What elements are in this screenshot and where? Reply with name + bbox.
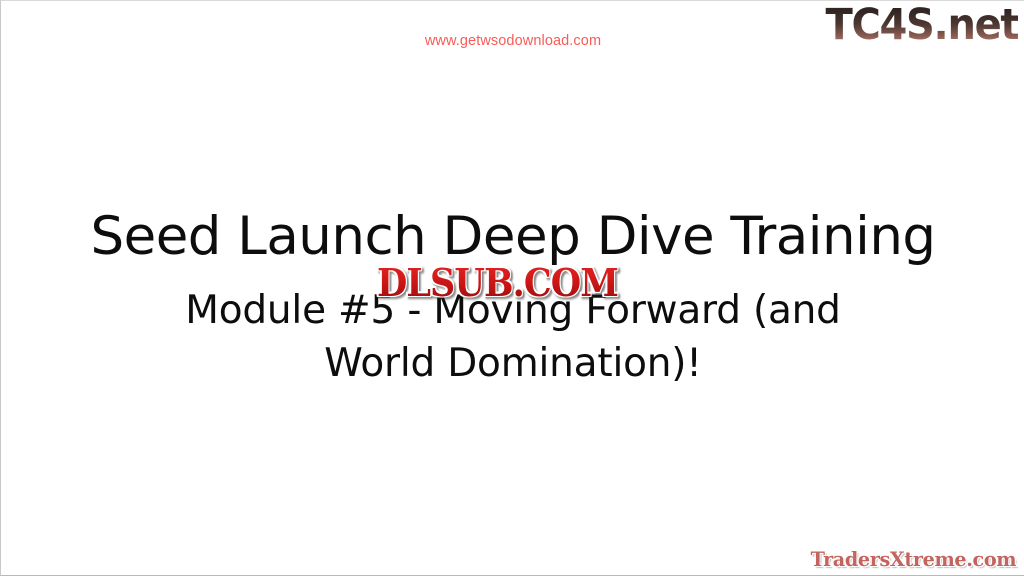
dlsub-logo-watermark: DLSUB.COM [377, 263, 618, 303]
tc4s-logo-watermark: TC4S.net [825, 2, 1018, 48]
presentation-slide: www.getwsodownload.com TC4S.net Seed Lau… [0, 0, 1024, 576]
tradersxtreme-logo-watermark: TradersXtreme.com [810, 547, 1016, 571]
slide-subtitle-line-2: World Domination)! [1, 337, 1024, 390]
slide-title: Seed Launch Deep Dive Training [1, 205, 1024, 269]
